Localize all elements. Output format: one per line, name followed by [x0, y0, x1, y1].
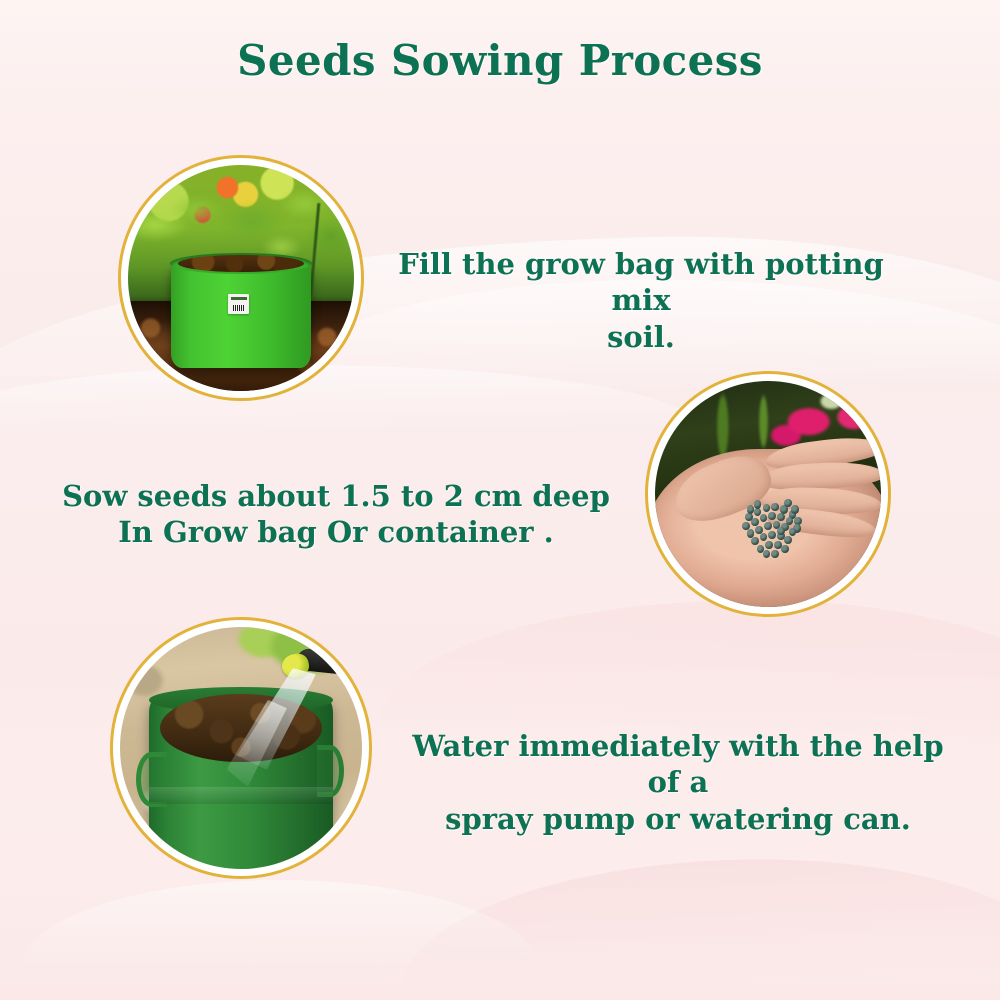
- watering-grow-bag-photo: [110, 617, 372, 879]
- photo-clip-circle-2: [655, 381, 881, 607]
- seed-pile: [741, 494, 813, 557]
- seed: [768, 512, 776, 520]
- hand-holding-seeds-photo: [645, 371, 891, 617]
- step-3-caption: Water immediately with the help of a spr…: [400, 728, 956, 837]
- seed: [765, 541, 773, 549]
- seed: [777, 527, 785, 535]
- seed: [771, 503, 779, 511]
- step-2-caption-line-2: In Grow bag Or container .: [56, 514, 616, 550]
- infographic-poster: Seeds Sowing Process Fill the grow bag w…: [0, 0, 1000, 1000]
- seed: [791, 505, 799, 513]
- grow-bag-with-potting-mix-photo: [118, 155, 364, 401]
- green-grow-bag-with-handles: [149, 697, 333, 869]
- seed: [754, 500, 762, 508]
- seed: [763, 504, 771, 512]
- seed: [789, 528, 797, 536]
- step-3-caption-line-1: Water immediately with the help of a: [400, 728, 956, 801]
- grow-bag-handle-left: [136, 752, 167, 807]
- green-grow-bag: [171, 262, 311, 368]
- step-3-caption-line-2: spray pump or watering can.: [400, 801, 956, 837]
- photo-clip-circle-1: [128, 165, 354, 391]
- step-1-caption: Fill the grow bag with potting mix soil.: [376, 246, 906, 355]
- product-label-tag: [228, 294, 249, 314]
- seed: [781, 545, 789, 553]
- seed: [768, 531, 776, 539]
- step-1-caption-line-2: soil.: [376, 319, 906, 355]
- seed: [760, 533, 768, 541]
- seed: [751, 537, 759, 545]
- seed: [747, 505, 755, 513]
- page-title: Seeds Sowing Process: [0, 36, 1000, 85]
- photo-clip-circle-3: [120, 627, 362, 869]
- seed: [784, 536, 792, 544]
- seed: [763, 550, 771, 558]
- step-2-caption-line-1: Sow seeds about 1.5 to 2 cm deep: [56, 478, 616, 514]
- potting-mix-soil-surface: [178, 255, 304, 272]
- seed: [771, 550, 779, 558]
- seed: [764, 522, 772, 530]
- seed: [777, 513, 785, 521]
- step-2-caption: Sow seeds about 1.5 to 2 cm deep In Grow…: [56, 478, 616, 551]
- grow-bag-handle-right: [317, 745, 344, 796]
- step-1-caption-line-1: Fill the grow bag with potting mix: [376, 246, 906, 319]
